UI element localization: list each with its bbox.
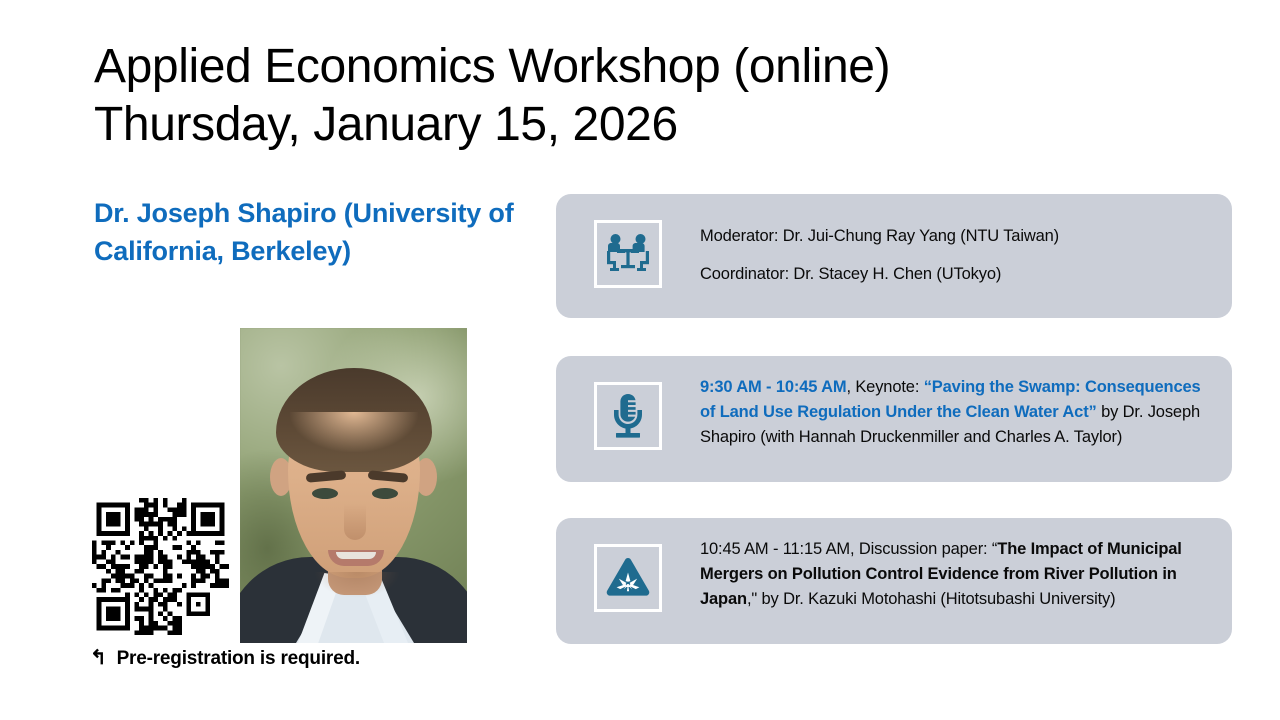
discussion-paper-card: 10:45 AM - 11:15 AM, Discussion paper: “… — [556, 518, 1232, 644]
speaker-portrait-photo — [240, 328, 467, 643]
portrait-mouth — [328, 550, 384, 566]
keynote-card: 9:30 AM - 10:45 AM, Keynote: “Paving the… — [556, 356, 1232, 482]
portrait-eye-left — [312, 488, 338, 499]
keynote-time: 9:30 AM - 10:45 AM — [700, 378, 846, 396]
hazard-burst-icon — [594, 544, 662, 612]
moderator-card-text: Moderator: Dr. Jui-Chung Ray Yang (NTU T… — [700, 224, 1232, 287]
microphone-icon — [594, 382, 662, 450]
presentation-slide: Applied Economics Workshop (online) Thur… — [0, 0, 1280, 720]
moderator-card: Moderator: Dr. Jui-Chung Ray Yang (NTU T… — [556, 194, 1232, 318]
speaker-name: Dr. Joseph Shapiro (University of Califo… — [94, 194, 524, 270]
pre-registration-note: ↰ Pre-registration is required. — [90, 648, 360, 670]
portrait-nose — [344, 504, 366, 540]
discussion-authors: ," by Dr. Kazuki Motohashi (Hitotsubashi… — [747, 590, 1116, 608]
title-line-2: Thursday, January 15, 2026 — [94, 96, 1094, 154]
coordinator-line: Coordinator: Dr. Stacey H. Chen (UTokyo) — [700, 262, 1214, 287]
pre-registration-note-text: Pre-registration is required. — [117, 648, 360, 670]
portrait-chin-shadow — [314, 572, 400, 598]
keynote-separator: , Keynote: — [846, 378, 923, 396]
title-line-1: Applied Economics Workshop (online) — [94, 38, 1094, 96]
portrait-eye-right — [372, 488, 398, 499]
registration-qr-code[interactable] — [92, 498, 229, 635]
moderator-line: Moderator: Dr. Jui-Chung Ray Yang (NTU T… — [700, 224, 1214, 249]
keynote-card-text: 9:30 AM - 10:45 AM, Keynote: “Paving the… — [700, 375, 1232, 450]
page-title: Applied Economics Workshop (online) Thur… — [94, 38, 1094, 154]
meeting-table-icon — [594, 220, 662, 288]
curved-up-left-arrow-icon: ↰ — [90, 648, 107, 668]
discussion-paper-card-text: 10:45 AM - 11:15 AM, Discussion paper: “… — [700, 537, 1232, 612]
qr-canvas — [92, 498, 229, 635]
discussion-time-label: 10:45 AM - 11:15 AM, Discussion paper: “ — [700, 540, 997, 558]
